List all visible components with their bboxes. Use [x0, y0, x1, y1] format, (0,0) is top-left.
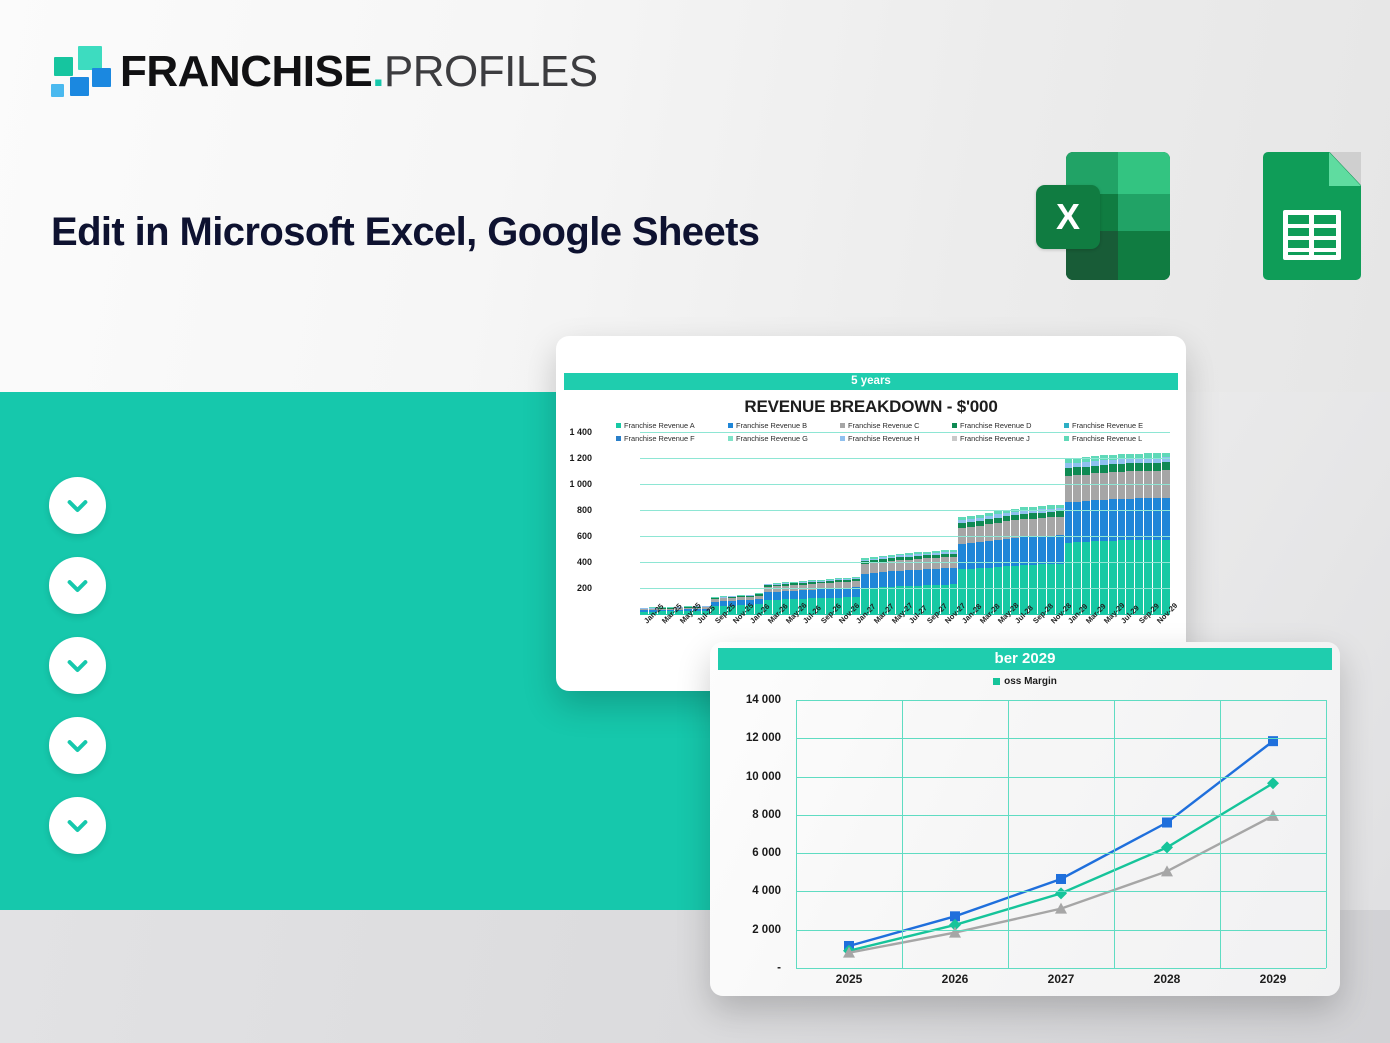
margin-gridline-v: [902, 700, 903, 968]
gross-margin-card: ber 2029 oss Margin -2 0004 0006 0008 00…: [710, 642, 1340, 996]
revenue-bar-segment: [941, 568, 949, 585]
margin-series-line: [849, 741, 1273, 946]
revenue-bar: [1118, 454, 1126, 614]
feature-item[interactable]: [49, 705, 140, 785]
revenue-bar-segment: [1091, 473, 1099, 500]
revenue-gridline: [640, 562, 1170, 563]
revenue-bar-segment: [1144, 498, 1152, 540]
revenue-bar-segment: [1162, 498, 1170, 540]
revenue-bar-segment: [861, 564, 869, 574]
chevron-down-icon: [49, 477, 106, 534]
revenue-bar-segment: [799, 590, 807, 599]
revenue-bar-segment: [1118, 472, 1126, 499]
revenue-y-tick-label: 400: [556, 557, 592, 567]
margin-gridline-v: [1114, 700, 1115, 968]
margin-gridline-h: [796, 777, 1326, 778]
revenue-bar-segment: [1109, 472, 1117, 499]
revenue-bar: [1047, 505, 1055, 614]
revenue-bar-segment: [1082, 475, 1090, 502]
revenue-bar-segment: [1153, 498, 1161, 540]
revenue-bar-segment: [1047, 517, 1055, 535]
page-title: Edit in Microsoft Excel, Google Sheets: [51, 210, 759, 255]
revenue-gridline: [640, 536, 1170, 537]
revenue-bar-segment: [914, 559, 922, 569]
margin-y-tick-label: 4 000: [721, 885, 781, 897]
margin-data-point: [1056, 874, 1066, 884]
revenue-bar-segment: [870, 563, 878, 573]
revenue-bar-segment: [1126, 463, 1134, 471]
sheets-grid-glyph: [1283, 210, 1341, 260]
revenue-bar-segment: [808, 590, 816, 599]
margin-gridline-h: [796, 700, 1326, 701]
revenue-bar-segment: [1153, 463, 1161, 471]
revenue-bar-segment: [985, 524, 993, 541]
logo-wordmark: FRANCHISE . PROFILES: [120, 50, 598, 94]
revenue-chart-title: REVENUE BREAKDOWN - $'000: [556, 397, 1186, 417]
revenue-y-tick-label: 1 400: [556, 427, 592, 437]
margin-y-tick-label: 8 000: [721, 809, 781, 821]
revenue-period-badge: 5 years: [564, 373, 1178, 390]
revenue-y-tick-label: 800: [556, 505, 592, 515]
revenue-bar-segment: [1100, 465, 1108, 473]
excel-x-glyph: X: [1036, 185, 1100, 249]
revenue-bar-segment: [764, 592, 772, 600]
revenue-bar-segment: [1020, 537, 1028, 565]
revenue-bar-segment: [1135, 540, 1143, 614]
revenue-bar-segment: [1162, 540, 1170, 614]
revenue-bar: [1144, 453, 1152, 614]
revenue-bar-segment: [1144, 463, 1152, 471]
revenue-bar-segment: [817, 589, 825, 598]
chevron-down-icon: [49, 637, 106, 694]
revenue-bar-segment: [1029, 519, 1037, 537]
margin-data-point: [1161, 841, 1173, 853]
revenue-bar-segment: [994, 523, 1002, 540]
margin-chart-legend: oss Margin: [710, 676, 1340, 687]
revenue-bar-segment: [1100, 473, 1108, 500]
revenue-bar-segment: [1135, 498, 1143, 540]
revenue-bar-segment: [1126, 540, 1134, 614]
revenue-bar-segment: [1126, 499, 1134, 541]
revenue-legend-item: Franchise Revenue C: [840, 421, 952, 430]
margin-data-point: [1055, 887, 1067, 899]
margin-gridline-h: [796, 891, 1326, 892]
feature-item[interactable]: [49, 625, 140, 705]
revenue-bar-segment: [1029, 537, 1037, 565]
revenue-bar: [985, 513, 993, 614]
chevron-down-icon: [49, 717, 106, 774]
revenue-y-tick-label: 600: [556, 531, 592, 541]
legend-label-gross-margin: oss Margin: [1004, 676, 1057, 687]
revenue-bar-segment: [1020, 519, 1028, 537]
revenue-bar-segment: [985, 541, 993, 567]
revenue-bar-segment: [1038, 518, 1046, 536]
revenue-y-tick-label: 200: [556, 583, 592, 593]
chevron-down-icon: [49, 557, 106, 614]
revenue-y-tick-label: 1 000: [556, 479, 592, 489]
margin-x-tick-label: 2027: [1048, 972, 1075, 986]
margin-chart-lines: [796, 700, 1326, 968]
margin-gridline-h: [796, 738, 1326, 739]
app-icons-group: X: [1036, 152, 1382, 280]
revenue-bar-segment: [1073, 467, 1081, 475]
revenue-bar-segment: [790, 591, 798, 599]
revenue-bar-segment: [1144, 540, 1152, 614]
revenue-bar-segment: [905, 570, 913, 586]
revenue-legend-item: Franchise Revenue D: [952, 421, 1064, 430]
revenue-legend-label: Franchise Revenue A: [624, 421, 695, 430]
revenue-bar-segment: [1091, 466, 1099, 474]
margin-y-tick-label: 12 000: [721, 732, 781, 744]
revenue-bar-segment: [1135, 463, 1143, 471]
google-sheets-icon[interactable]: [1248, 152, 1382, 280]
revenue-bar: [1126, 454, 1134, 614]
revenue-bar: [958, 517, 966, 614]
revenue-bar: [1056, 505, 1064, 614]
microsoft-excel-icon[interactable]: X: [1036, 152, 1170, 280]
revenue-bar: [1135, 454, 1143, 615]
revenue-bar-segment: [1073, 475, 1081, 502]
revenue-bar-segment: [1056, 517, 1064, 536]
revenue-chart-bars: [640, 432, 1170, 614]
margin-x-tick-label: 2028: [1154, 972, 1181, 986]
margin-gridline-h: [796, 930, 1326, 931]
revenue-bar: [1038, 506, 1046, 614]
margin-period-badge: ber 2029: [718, 648, 1332, 670]
margin-y-tick-label: 14 000: [721, 694, 781, 706]
margin-series-line: [849, 783, 1273, 951]
revenue-bar-segment: [1082, 467, 1090, 475]
margin-gridline-v: [1326, 700, 1327, 968]
feature-item[interactable]: [49, 545, 140, 625]
revenue-gridline: [640, 588, 1170, 589]
revenue-bar-segment: [967, 543, 975, 569]
feature-item[interactable]: [49, 785, 140, 865]
margin-x-tick-label: 2029: [1260, 972, 1287, 986]
revenue-bar-segment: [976, 542, 984, 568]
revenue-legend-label: Franchise Revenue B: [736, 421, 807, 430]
margin-x-tick-label: 2026: [942, 972, 969, 986]
revenue-bar: [976, 515, 984, 614]
margin-y-tick-label: 6 000: [721, 847, 781, 859]
margin-series-line: [849, 816, 1273, 953]
chevron-down-icon: [49, 797, 106, 854]
margin-gridline-v: [1008, 700, 1009, 968]
revenue-bar-segment: [1047, 536, 1055, 564]
feature-list: [49, 465, 140, 865]
margin-y-tick-label: -: [721, 962, 781, 974]
revenue-bar-segment: [896, 571, 904, 587]
feature-item[interactable]: [49, 465, 140, 545]
revenue-legend-label: Franchise Revenue E: [1072, 421, 1143, 430]
revenue-bar-segment: [826, 589, 834, 598]
revenue-bar: [1162, 453, 1170, 614]
margin-y-tick-label: 2 000: [721, 924, 781, 936]
margin-chart-plot: -2 0004 0006 0008 00010 00012 00014 000: [788, 700, 1326, 968]
revenue-bar-segment: [1118, 499, 1126, 541]
revenue-legend-item: Franchise Revenue A: [616, 421, 728, 430]
revenue-bar-segment: [1100, 500, 1108, 541]
revenue-bar-segment: [782, 591, 790, 599]
revenue-bar-segment: [1091, 541, 1099, 614]
revenue-bar-segment: [923, 569, 931, 585]
revenue-bar-segment: [923, 558, 931, 569]
logo-word-bold: FRANCHISE: [120, 50, 372, 94]
revenue-bar-segment: [967, 527, 975, 544]
margin-gridline-v: [1220, 700, 1221, 968]
revenue-legend-item: Franchise Revenue E: [1064, 421, 1176, 430]
revenue-bar: [1153, 453, 1161, 614]
revenue-bar-segment: [879, 572, 887, 587]
revenue-bar-segment: [950, 568, 958, 585]
revenue-bar-segment: [1065, 476, 1073, 502]
revenue-bar-segment: [1109, 499, 1117, 540]
revenue-bar-segment: [1065, 468, 1073, 476]
revenue-bar-segment: [843, 588, 851, 597]
revenue-bar-segment: [870, 573, 878, 588]
margin-data-point: [1267, 777, 1279, 789]
margin-y-tick-label: 10 000: [721, 771, 781, 783]
revenue-gridline: [640, 458, 1170, 459]
revenue-bar-segment: [888, 571, 896, 586]
revenue-bar-segment: [879, 562, 887, 572]
revenue-bar-segment: [1109, 541, 1117, 614]
revenue-gridline: [640, 510, 1170, 511]
revenue-bar: [1020, 507, 1028, 614]
margin-data-point: [1161, 865, 1173, 876]
revenue-bar-segment: [932, 569, 940, 585]
revenue-bar-segment: [1056, 535, 1064, 563]
revenue-bar-segment: [773, 592, 781, 600]
revenue-legend-label: Franchise Revenue D: [960, 421, 1031, 430]
revenue-bar-segment: [835, 588, 843, 597]
revenue-breakdown-card: 5 years REVENUE BREAKDOWN - $'000 Franch…: [556, 336, 1186, 691]
revenue-bar-segment: [1109, 464, 1117, 472]
margin-data-point: [1162, 818, 1172, 828]
revenue-bar-segment: [932, 558, 940, 569]
revenue-bar: [967, 516, 975, 614]
revenue-chart-plot: 2004006008001 0001 2001 400: [596, 432, 1170, 614]
revenue-bar-segment: [1162, 462, 1170, 470]
margin-gridline-h: [796, 968, 1326, 969]
revenue-bar-segment: [976, 526, 984, 543]
revenue-gridline: [640, 484, 1170, 485]
revenue-bar-segment: [914, 570, 922, 586]
revenue-legend-item: Franchise Revenue B: [728, 421, 840, 430]
revenue-bar-segment: [958, 544, 966, 569]
logo-word-dot: .: [372, 50, 384, 94]
revenue-bar-segment: [861, 574, 869, 589]
revenue-bar: [1109, 455, 1117, 614]
revenue-bar-segment: [1126, 471, 1134, 498]
revenue-bar: [1100, 455, 1108, 614]
margin-gridline-v: [796, 700, 797, 968]
margin-x-tick-label: 2025: [836, 972, 863, 986]
margin-gridline-h: [796, 815, 1326, 816]
margin-gridline-h: [796, 853, 1326, 854]
revenue-bar-segment: [1118, 464, 1126, 472]
revenue-bar: [1029, 507, 1037, 614]
revenue-gridline: [640, 432, 1170, 433]
logo-mark-icon: [46, 44, 104, 99]
legend-item-gross-margin: oss Margin: [993, 676, 1057, 687]
revenue-legend-label: Franchise Revenue C: [848, 421, 919, 430]
logo-word-light: PROFILES: [384, 50, 598, 94]
revenue-bar-segment: [1038, 536, 1046, 564]
revenue-y-tick-label: 1 200: [556, 453, 592, 463]
brand-logo[interactable]: FRANCHISE . PROFILES: [46, 44, 598, 99]
